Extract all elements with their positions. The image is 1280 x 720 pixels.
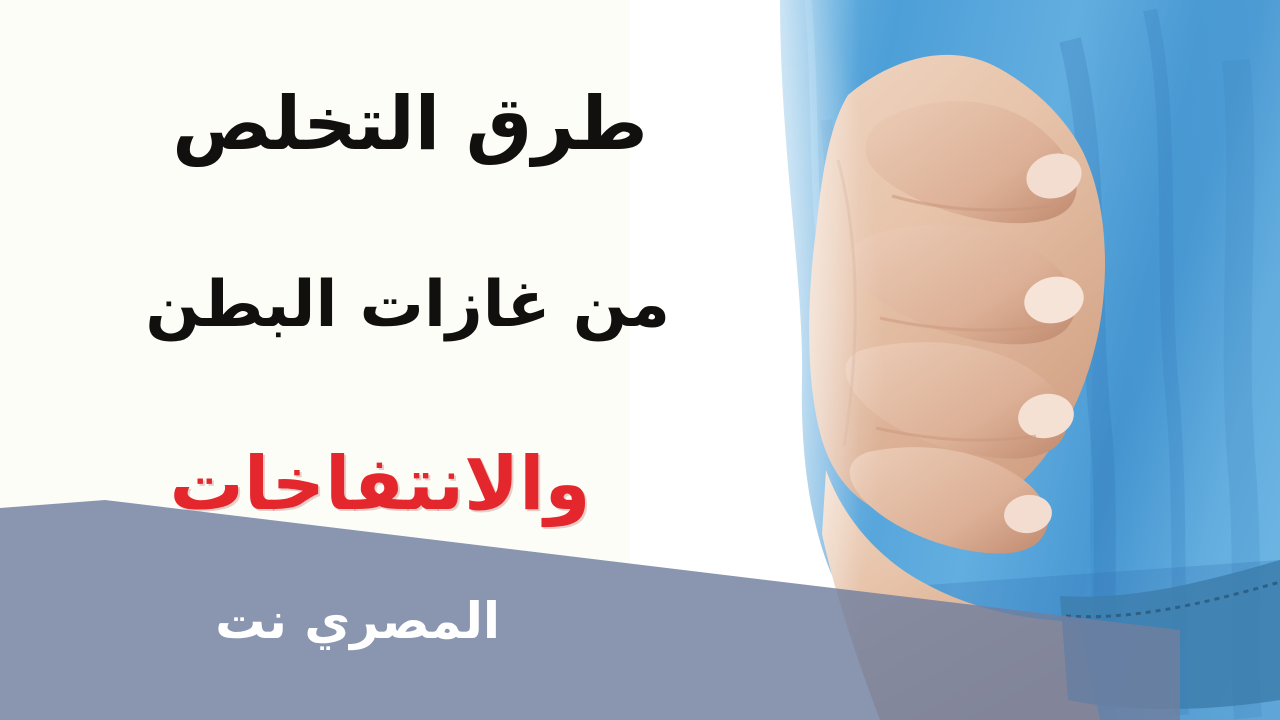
- watermark-label: المصري نت: [120, 592, 500, 650]
- stock-photo-man-holding-abdomen: [630, 0, 1280, 720]
- headline-line-2: من غازات البطن: [150, 272, 670, 339]
- headline-line-1: طرق التخلص: [150, 86, 670, 164]
- headline-line-3-accent: والانتفاخات: [120, 446, 640, 524]
- poster-canvas: طرق التخلص من غازات البطن والانتفاخات ال…: [0, 0, 1280, 720]
